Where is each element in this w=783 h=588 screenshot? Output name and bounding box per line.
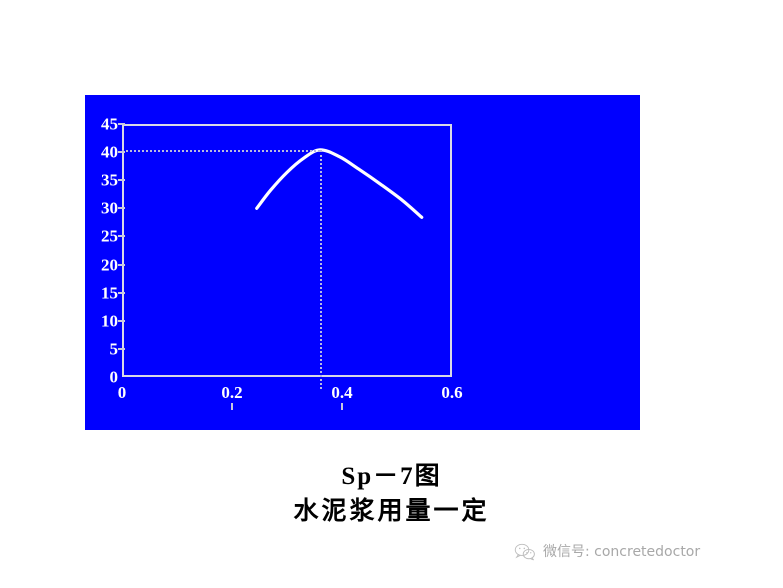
y-axis-tick-label: 25 [84, 228, 118, 245]
wechat-icon [514, 543, 536, 561]
y-axis-tick-label: 30 [84, 200, 118, 217]
x-axis-tick-label: 0 [118, 383, 127, 403]
x-axis-tick-labels: 00.20.40.6 [122, 383, 452, 409]
x-axis-tick-mark [341, 403, 343, 410]
figure-caption: Sp－7图 水泥浆用量一定 [0, 462, 783, 528]
y-axis-tick-labels: 051015202530354045 [85, 124, 118, 377]
y-axis-tick-label: 15 [84, 284, 118, 301]
plot-frame [122, 124, 452, 377]
y-axis-tick-label: 20 [84, 256, 118, 273]
y-axis-tick-mark [118, 292, 125, 294]
y-axis-tick-label: 40 [84, 144, 118, 161]
y-axis-tick-mark [118, 235, 125, 237]
y-axis-tick-label: 5 [84, 340, 118, 357]
y-axis-tick-mark [118, 264, 125, 266]
peak-guide-horizontal [122, 150, 320, 152]
y-axis-tick-label: 0 [84, 369, 118, 386]
caption-figure-number: Sp－7图 [0, 462, 783, 492]
y-axis-tick-mark [118, 320, 125, 322]
x-axis-tick-label: 0.4 [331, 383, 352, 403]
y-axis-tick-label: 10 [84, 312, 118, 329]
y-axis-tick-label: 45 [84, 116, 118, 133]
x-axis-tick-label: 0.6 [441, 383, 462, 403]
y-axis-tick-mark [118, 123, 125, 125]
wechat-watermark: 微信号: concretedoctor [514, 543, 700, 561]
y-axis-tick-mark [118, 151, 125, 153]
watermark-text: 微信号: concretedoctor [543, 543, 700, 561]
y-axis-tick-mark [118, 207, 125, 209]
x-axis-tick-mark [231, 403, 233, 410]
caption-subtitle: 水泥浆用量一定 [0, 494, 783, 528]
chart-panel: 051015202530354045 00.20.40.6 [85, 95, 640, 430]
x-axis-tick-label: 0.2 [221, 383, 242, 403]
y-axis-tick-mark [118, 348, 125, 350]
y-axis-tick-label: 35 [84, 172, 118, 189]
y-axis-tick-mark [118, 179, 125, 181]
peak-guide-vertical [320, 150, 322, 389]
